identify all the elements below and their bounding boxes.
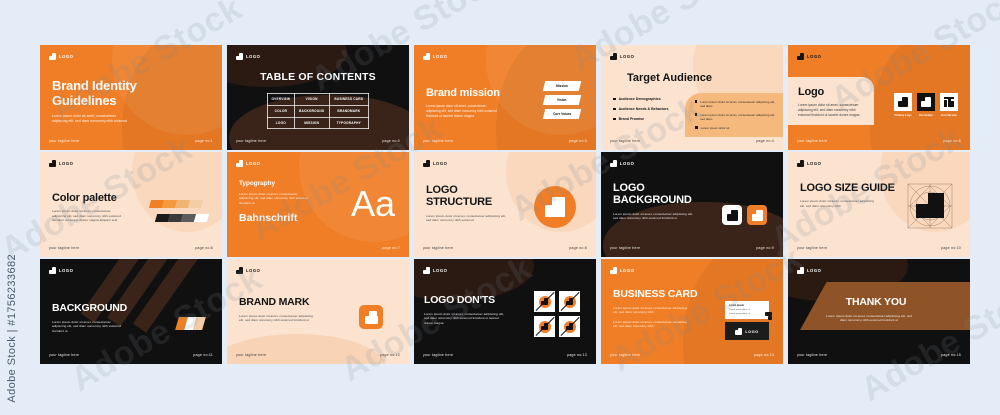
logo-label: LOGO (807, 268, 821, 273)
page-number: page no:8 (569, 246, 587, 250)
brand-mark-icon (236, 160, 243, 167)
slide-title: Brand mission (426, 87, 516, 99)
logo-label: LOGO (59, 161, 73, 166)
color-swatch[interactable] (188, 200, 203, 208)
palette-row-neutral (155, 214, 209, 222)
toc-cell[interactable]: BRANDMARK (329, 105, 368, 117)
toc-table: OVERVIEW VISION BUSINESS CARD COLOR BACK… (267, 93, 369, 129)
page-number: page no:2 (382, 139, 400, 143)
list-item: Lorem ipsum dolor sit (695, 126, 775, 130)
tagline: your tagline here (610, 139, 640, 143)
bullet-square-icon (613, 98, 616, 101)
guide-lines-icon (906, 182, 954, 230)
decorative-blob (227, 334, 387, 364)
slide-grid: LOGO Brand Identity Guidelines Lorem ips… (40, 45, 968, 375)
toc-cell[interactable]: BUSINESS CARD (329, 94, 368, 106)
slide-description: Lorem ipsum dolor sit amet, consectetuer… (613, 212, 697, 221)
logo-label: LOGO (246, 161, 260, 166)
brand-mark-icon (236, 267, 243, 274)
table-row: OVERVIEW VISION BUSINESS CARD (268, 94, 369, 106)
logo-label: LOGO (620, 54, 634, 59)
brand-mark-icon (898, 97, 908, 107)
logo-on-white[interactable] (722, 205, 742, 225)
slide-title: Brand Identity Guidelines (52, 79, 172, 108)
slide-logo: LOGO (797, 53, 821, 60)
slide-background[interactable]: LOGO BACKGROUND Lorem ipsum dolor sit am… (40, 259, 222, 364)
prohibition-slash-icon (535, 292, 554, 311)
logo-variant-tiles: Primary Logo Secondary (894, 93, 958, 117)
table-row: LOGO MISSION TYPOGRAPHY (268, 117, 369, 129)
slide-logo-size-guide[interactable]: LOGO LOGO SIZE GUIDE Lorem ipsum dolor s… (788, 152, 970, 257)
brand-mark-icon (752, 210, 763, 221)
toc-cell[interactable]: COLOR (268, 105, 295, 117)
slide-description: Lorem ipsum dolor sit amet, consectetuer… (800, 199, 878, 208)
logo-label: LOGO (246, 268, 260, 273)
tagline: your tagline here (797, 139, 827, 143)
slide-body: Brand Identity Guidelines Lorem ipsum do… (52, 79, 172, 124)
slide-typography[interactable]: LOGO Typography Lorem ipsum dolor sit am… (227, 152, 409, 257)
logo-label: LOGO (620, 161, 634, 166)
brand-mark-icon (49, 53, 56, 60)
slide-footer: your tagline here page no:4 (610, 139, 774, 143)
dont-example[interactable] (559, 316, 580, 337)
logo-label: LOGO (433, 54, 447, 59)
brand-mark-icon (423, 53, 430, 60)
logo-label: LOGO (433, 268, 447, 273)
variant-label: Primary Logo (894, 114, 912, 117)
slide-footer: your tagline here page no:11 (49, 353, 213, 357)
bullet-label: Audience Needs & Behaviors (619, 107, 669, 111)
slide-body: LOGO STRUCTURE Lorem ipsum dolor sit ame… (426, 184, 522, 223)
brand-mark-icon (797, 160, 804, 167)
list-item: Audience Demographics (613, 97, 669, 101)
dont-example[interactable] (559, 291, 580, 312)
slide-description: Lorem ipsum dolor sit amet, consectetuer… (52, 114, 132, 124)
toc-cell[interactable]: LOGO (268, 117, 295, 129)
slide-description: Lorem ipsum dolor sit amet, consectetuer… (239, 192, 311, 205)
slide-footer: your tagline here page no:1 (49, 139, 213, 143)
slide-logo: LOGO (236, 267, 260, 274)
mission-pillars: Mission Vision Core Values (544, 81, 580, 119)
tagline: your tagline here (423, 139, 453, 143)
pillar-label: Core Values (553, 112, 571, 116)
card-logo-label: LOGO (745, 329, 758, 334)
business-card-front[interactable]: Lorem ipsum Lorem ipsum dolor sit Lorem … (725, 301, 769, 319)
tagline: your tagline here (797, 246, 827, 250)
slide-title: LOGO STRUCTURE (426, 184, 522, 209)
page-number: page no:3 (569, 139, 587, 143)
color-swatch[interactable] (194, 214, 209, 222)
brand-mark-icon (797, 267, 804, 274)
slide-footer: your tagline here page no:13 (423, 353, 587, 357)
slide-brand-mission[interactable]: LOGO Brand mission Lorem ipsum dolor sit… (414, 45, 596, 150)
adobe-stock-watermark-vertical: Adobe Stock | #1756233682 (6, 254, 18, 403)
slide-thank-you[interactable]: LOGO THANK YOU Lorem ipsum dolor sit ame… (788, 259, 970, 364)
color-swatch[interactable] (193, 317, 206, 330)
pillar-chip[interactable]: Mission (543, 81, 581, 91)
logo-label: LOGO (807, 54, 821, 59)
slide-description: Lorem ipsum dolor sit amet, consectetuer… (798, 103, 864, 117)
tagline: your tagline here (49, 139, 79, 143)
screenshot-stage: Adobe Stock | #1756233682 LOGO Brand Ide… (0, 0, 1000, 415)
toc-cell[interactable]: MISSION (294, 117, 329, 129)
tagline: your tagline here (49, 246, 79, 250)
brand-mark-icon (727, 210, 738, 221)
brand-mark-icon (423, 160, 430, 167)
slide-title: Target Audience (627, 72, 712, 84)
slide-title: Logo (798, 86, 874, 98)
slide-title: LOGO BACKGROUND (613, 182, 713, 207)
bullet-square-icon (695, 126, 698, 129)
page-number: page no:13 (567, 353, 587, 357)
slide-body: Brand mission Lorem ipsum dolor sit amet… (426, 87, 516, 118)
slide-footer: your tagline here page no:15 (797, 353, 961, 357)
tagline: your tagline here (236, 353, 266, 357)
pillar-chip[interactable]: Vision (543, 95, 581, 105)
detail-text: Lorem ipsum dolor sit (701, 126, 730, 130)
slide-business-card[interactable]: LOGO BUSINESS CARD Lorem ipsum dolor sit… (601, 259, 783, 364)
variant-label: Icon Version (940, 114, 958, 117)
brand-mark-icon (365, 311, 378, 324)
icon-version-icon (944, 97, 954, 107)
slide-body: LOGO BACKGROUND Lorem ipsum dolor sit am… (613, 182, 713, 221)
slide-logo-structure[interactable]: LOGO LOGO STRUCTURE Lorem ipsum dolor si… (414, 152, 596, 257)
slide-logo: LOGO (423, 160, 447, 167)
page-number: page no:9 (756, 246, 774, 250)
list-item: Brand Promise (613, 117, 669, 121)
pillar-chip[interactable]: Core Values (543, 109, 581, 119)
slide-title: BACKGROUND (52, 303, 162, 315)
brand-mark-tile[interactable] (359, 305, 383, 329)
logo-label: LOGO (246, 54, 260, 59)
brand-mark-icon (610, 160, 617, 167)
font-sample: Aa (351, 186, 395, 222)
list-item: Lorem ipsum dolor sit amet, consectetuer… (695, 100, 775, 108)
slide-logo: LOGO (49, 53, 73, 60)
card-name: Lorem ipsum (729, 304, 744, 307)
slide-logo: LOGO (49, 160, 73, 167)
toc-cell[interactable]: VISION (294, 94, 329, 106)
slide-logo: LOGO (49, 267, 73, 274)
slide-logo: LOGO (423, 267, 447, 274)
tagline: your tagline here (797, 353, 827, 357)
brand-mark-icon (545, 197, 565, 217)
page-number: page no:12 (380, 353, 400, 357)
detail-text: Lorem ipsum dolor sit amet, consectetuer… (700, 113, 775, 121)
logo-donts-grid (534, 291, 580, 337)
tagline: your tagline here (423, 353, 453, 357)
slide-description: Lorem ipsum dolor sit amet, consectetuer… (52, 209, 124, 222)
page-number: page no:10 (941, 246, 961, 250)
page-number: page no:1 (195, 139, 213, 143)
slide-footer: your tagline here page no:6 (49, 246, 213, 250)
slide-title: TABLE OF CONTENTS (227, 71, 409, 83)
slide-brand-identity-guidelines[interactable]: LOGO Brand Identity Guidelines Lorem ips… (40, 45, 222, 150)
palette-row-warm (149, 200, 203, 208)
bullet-square-icon (613, 108, 616, 111)
slide-logo: LOGO (797, 160, 821, 167)
tagline: your tagline here (423, 246, 453, 250)
page-number: page no:6 (195, 246, 213, 250)
slide-footer: your tagline here page no:2 (236, 139, 400, 143)
logo-variant-secondary[interactable]: Secondary (917, 93, 935, 117)
logo-structure-circle (534, 186, 576, 228)
pillar-label: Vision (557, 98, 567, 102)
slide-kicker: Typography (239, 180, 275, 187)
logo-background-tiles (722, 205, 767, 225)
detail-text: Lorem ipsum dolor sit amet, consectetuer… (700, 100, 775, 108)
slide-footer: page no:7 (236, 246, 400, 250)
slide-table-of-contents[interactable]: LOGO TABLE OF CONTENTS OVERVIEW VISION B… (227, 45, 409, 150)
slide-description: Lorem ipsum dolor sit amet, consectetuer… (613, 306, 687, 315)
list-item: Audience Needs & Behaviors (613, 107, 669, 111)
slide-title: LOGO DON'TS (424, 295, 536, 307)
tagline: your tagline here (610, 246, 640, 250)
logo-variant-primary[interactable]: Primary Logo (894, 93, 912, 117)
business-card-back[interactable]: LOGO (725, 322, 769, 340)
logo-on-orange[interactable] (747, 205, 767, 225)
brand-mark-icon (49, 160, 56, 167)
brand-mark-icon (797, 53, 804, 60)
list-item: Lorem ipsum dolor sit amet, consectetuer… (695, 113, 775, 121)
page-number: page no:7 (382, 246, 400, 250)
toc-cell[interactable]: TYPOGRAPHY (329, 117, 368, 129)
brand-mark-icon (735, 328, 742, 335)
brand-mark-icon (49, 267, 56, 274)
bullet-square-icon (695, 113, 697, 116)
slide-title: THANK YOU (826, 297, 926, 309)
slide-color-palette[interactable]: LOGO Color palette Lorem ipsum dolor sit… (40, 152, 222, 257)
business-card-mockups: Lorem ipsum Lorem ipsum dolor sit Lorem … (725, 301, 769, 340)
slide-logo: LOGO (610, 53, 634, 60)
slide-logo: LOGO (797, 267, 821, 274)
page-number: page no:11 (193, 353, 213, 357)
toc-cell[interactable]: OVERVIEW (268, 94, 295, 106)
tagline: your tagline here (610, 353, 640, 357)
pillar-label: Mission (556, 84, 568, 88)
prohibition-slash-icon (560, 317, 579, 336)
bullet-square-icon (695, 100, 697, 103)
slide-body: LOGO DON'TS Lorem ipsum dolor sit amet, … (424, 295, 536, 325)
prohibition-slash-icon (535, 317, 554, 336)
slide-logo-background[interactable]: LOGO LOGO BACKGROUND Lorem ipsum dolor s… (601, 152, 783, 257)
page-number: page no:4 (756, 139, 774, 143)
slide-logo: LOGO (610, 160, 634, 167)
slide-title: BRAND MARK (239, 297, 345, 309)
slide-footer: your tagline here page no:9 (610, 246, 774, 250)
slide-body: Color palette Lorem ipsum dolor sit amet… (52, 192, 148, 223)
logo-label: LOGO (433, 161, 447, 166)
brand-mark-icon (236, 53, 243, 60)
tagline: your tagline here (236, 139, 266, 143)
logo-text-card: Logo Lorem ipsum dolor sit amet, consect… (788, 77, 874, 125)
card-line-1: Lorem ipsum dolor sit (729, 309, 750, 311)
slide-description: Lorem ipsum dolor sit amet, consectetuer… (426, 104, 498, 118)
slide-footer: your tagline here page no:14 (610, 353, 774, 357)
slide-title: LOGO SIZE GUIDE (800, 182, 896, 194)
slide-logo: LOGO (236, 160, 260, 167)
slide-footer: your tagline here page no:12 (236, 353, 400, 357)
dont-example[interactable] (534, 291, 555, 312)
slide-logo: LOGO (610, 267, 634, 274)
logo-swatch (894, 93, 912, 111)
slide-title: Color palette (52, 192, 148, 204)
slide-title: BUSINESS CARD (613, 289, 709, 301)
slide-description: Lorem ipsum dolor sit amet, consectetuer… (426, 214, 506, 223)
brand-mark-icon (610, 267, 617, 274)
slide-footer: your tagline here page no:8 (423, 246, 587, 250)
brand-mark-icon (921, 97, 931, 107)
page-number: page no:14 (754, 353, 774, 357)
slide-footer: your tagline here page no:3 (423, 139, 587, 143)
toc-cell[interactable]: BACKGROUND (294, 105, 329, 117)
slide-logo-overview[interactable]: LOGO Logo Lorem ipsum dolor sit amet, co… (788, 45, 970, 150)
slide-logo: LOGO (236, 53, 260, 60)
slide-description: Lorem ipsum dolor sit amet, consectetuer… (826, 314, 912, 323)
slide-target-audience[interactable]: LOGO Target Audience Audience Demographi… (601, 45, 783, 150)
audience-bullet-list: Audience Demographics Audience Needs & B… (613, 97, 669, 127)
dont-example[interactable] (534, 316, 555, 337)
slide-body: THANK YOU Lorem ipsum dolor sit amet, co… (826, 297, 926, 323)
page-number: page no:5 (943, 139, 961, 143)
logo-label: LOGO (59, 54, 73, 59)
prohibition-slash-icon (560, 292, 579, 311)
table-row: COLOR BACKGROUND BRANDMARK (268, 105, 369, 117)
page-number: page no:15 (941, 353, 961, 357)
slide-body: BACKGROUND Lorem ipsum dolor sit amet, c… (52, 303, 162, 333)
card-line-2: Lorem ipsum dolor sit (729, 313, 750, 315)
logo-label: LOGO (59, 268, 73, 273)
logo-swatch (940, 93, 958, 111)
bullet-label: Audience Demographics (619, 97, 661, 101)
slide-body: BRAND MARK Lorem ipsum dolor sit amet, c… (239, 297, 345, 323)
audience-detail-panel: Lorem ipsum dolor sit amet, consectetuer… (685, 93, 783, 137)
slide-logo: LOGO (423, 53, 447, 60)
slide-description: Lorem ipsum dolor sit amet, consectetuer… (52, 320, 122, 333)
tagline: your tagline here (49, 353, 79, 357)
slide-brand-mark[interactable]: LOGO BRAND MARK Lorem ipsum dolor sit am… (227, 259, 409, 364)
font-name: Bahnschrift (239, 212, 297, 224)
slide-footer: your tagline here page no:10 (797, 246, 961, 250)
logo-label: LOGO (807, 161, 821, 166)
logo-size-guide-diagram (906, 182, 954, 230)
slide-footer: your tagline here page no:5 (797, 139, 961, 143)
audience-detail-list: Lorem ipsum dolor sit amet, consectetuer… (695, 100, 775, 135)
slide-body: BUSINESS CARD Lorem ipsum dolor sit amet… (613, 289, 709, 329)
slide-body: LOGO SIZE GUIDE Lorem ipsum dolor sit am… (800, 182, 896, 208)
logo-swatch (917, 93, 935, 111)
background-swatch-group (175, 317, 206, 330)
slide-description: Lorem ipsum dolor sit amet, consectetuer… (239, 314, 315, 323)
logo-variant-icon[interactable]: Icon Version (940, 93, 958, 117)
variant-label: Secondary (917, 114, 935, 117)
slide-description-secondary: Lorem ipsum dolor sit amet, consectetuer… (613, 320, 687, 329)
bullet-square-icon (613, 118, 616, 121)
logo-label: LOGO (620, 268, 634, 273)
slide-description: Lorem ipsum dolor sit amet, consectetuer… (424, 312, 504, 325)
brand-mark-icon (610, 53, 617, 60)
slide-logo-donts[interactable]: LOGO LOGO DON'TS Lorem ipsum dolor sit a… (414, 259, 596, 364)
bullet-label: Brand Promise (619, 117, 645, 121)
brand-mark-icon (423, 267, 430, 274)
